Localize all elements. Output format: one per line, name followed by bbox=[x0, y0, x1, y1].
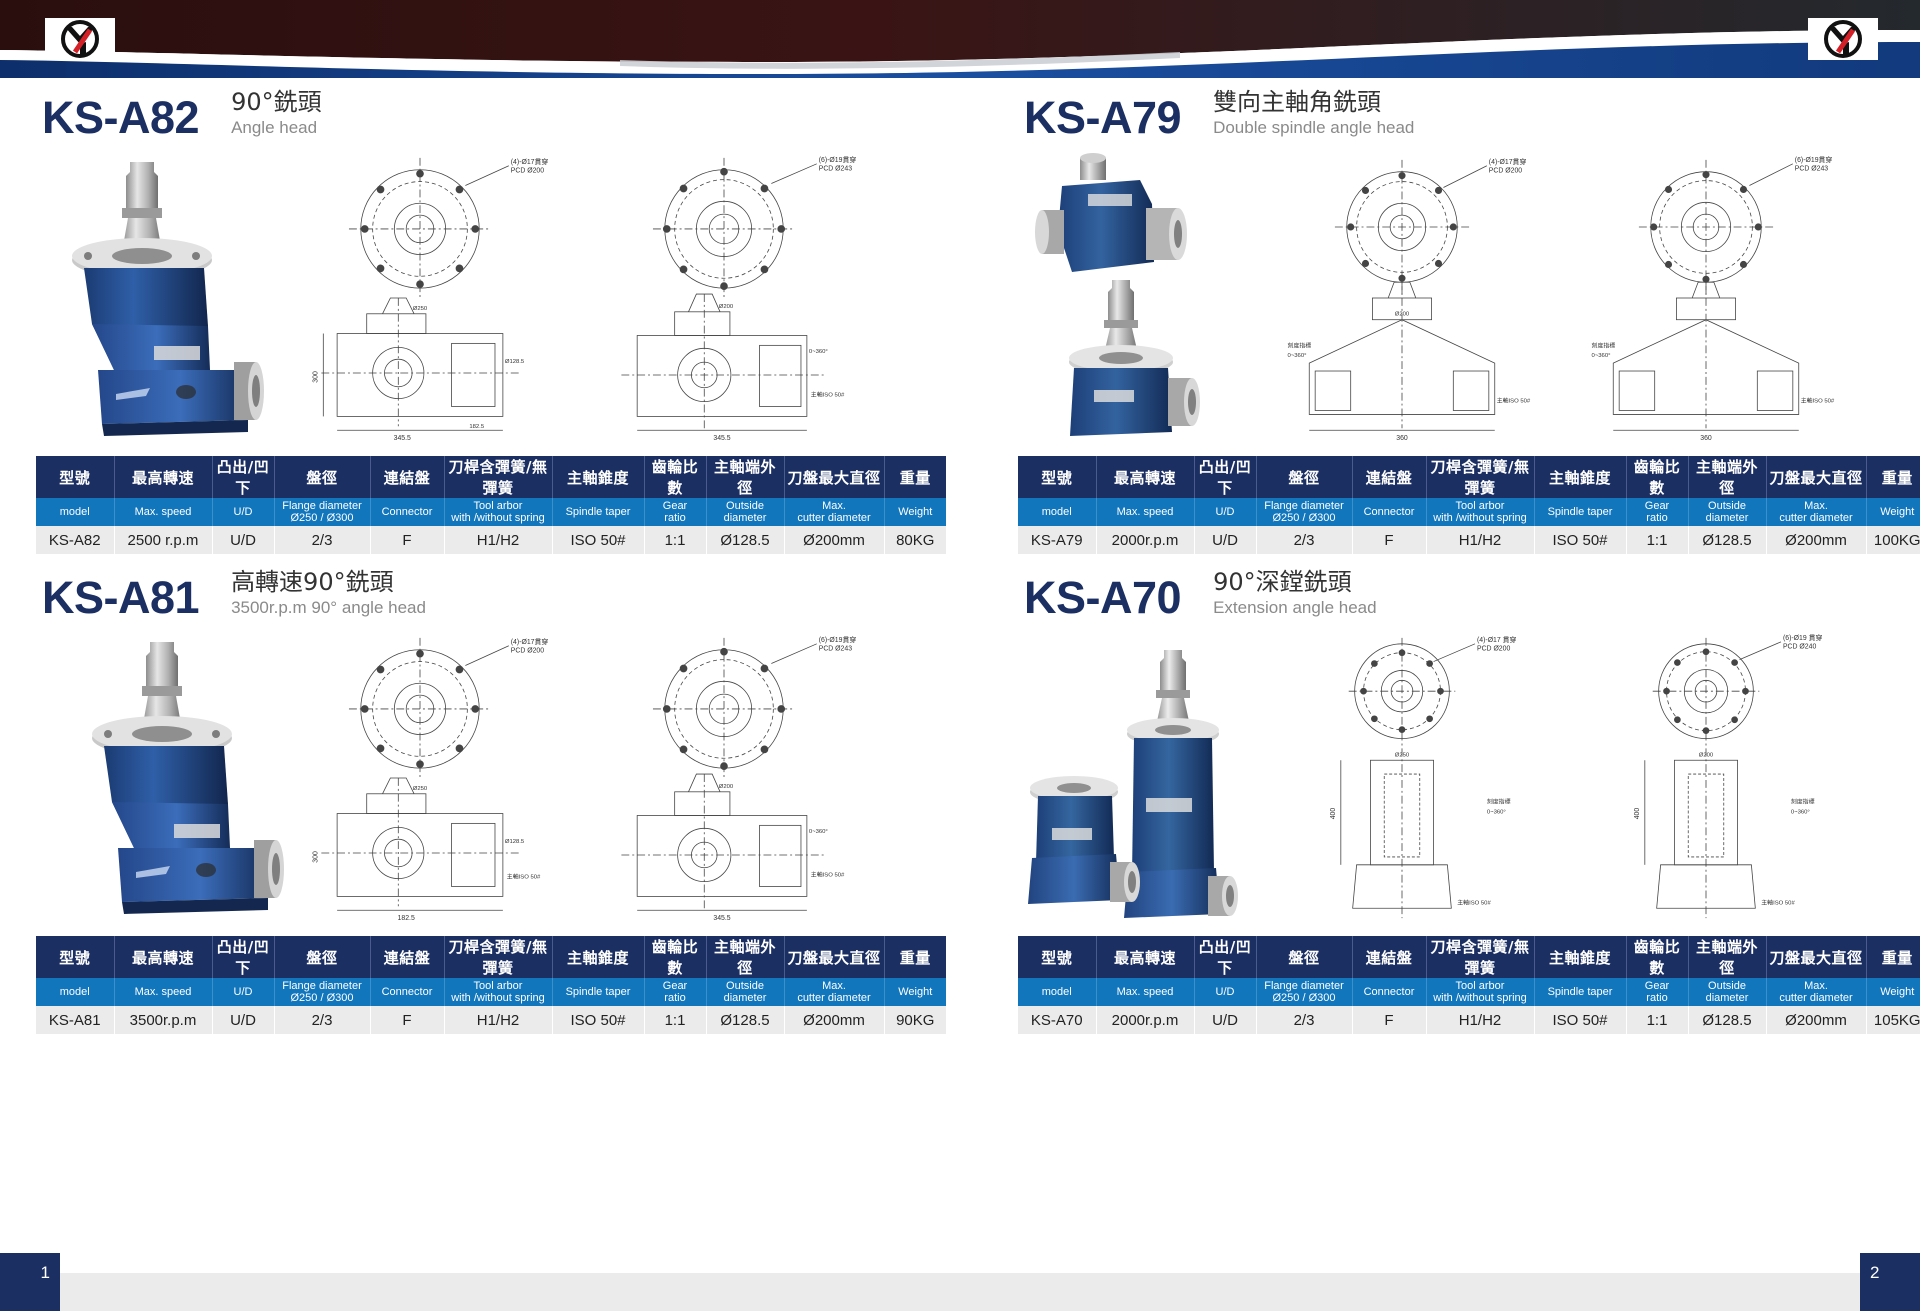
cell-connector: F bbox=[370, 1006, 444, 1034]
table-header-row-cn: 型號 最高轉速 凸出/凹下 盤徑 連結盤 刀桿含彈簧/無彈簧 主軸錐度 齒輪比數… bbox=[36, 456, 946, 498]
table-header-row-cn: 型號 最高轉速 凸出/凹下 盤徑 連結盤 刀桿含彈簧/無彈簧 主軸錐度 齒輪比數… bbox=[1018, 936, 1920, 978]
th-en-outside-dia: Outsidediameter bbox=[1688, 978, 1766, 1006]
svg-text:300: 300 bbox=[312, 371, 319, 383]
cell-tool-arbor: H1/H2 bbox=[1426, 526, 1534, 554]
product-media: (4)-Ø17貫穿 PCD Ø200 360 主軸ISO 50# 刻度指標 bbox=[1018, 148, 1854, 448]
th-cn-spindle: 主軸錐度 bbox=[552, 936, 644, 978]
product-heading: KS-A79 雙向主軸角銑頭 Double spindle angle head bbox=[1018, 82, 1854, 140]
cell-connector: F bbox=[1352, 526, 1426, 554]
table-header-row-cn: 型號 最高轉速 凸出/凹下 盤徑 連結盤 刀桿含彈簧/無彈簧 主軸錐度 齒輪比數… bbox=[36, 936, 946, 978]
th-en-gear-ratio: Gearratio bbox=[1626, 498, 1688, 526]
product-block-ks-a81: KS-A81 高轉速90°銑頭 3500r.p.m 90° angle head bbox=[36, 562, 872, 1034]
cell-ud: U/D bbox=[1194, 1006, 1256, 1034]
spec-table-ks-a79: 型號 最高轉速 凸出/凹下 盤徑 連結盤 刀桿含彈簧/無彈簧 主軸錐度 齒輪比數… bbox=[1018, 456, 1920, 554]
cell-spindle-taper: ISO 50# bbox=[1534, 526, 1626, 554]
table-header-row-cn: 型號 最高轉速 凸出/凹下 盤徑 連結盤 刀桿含彈簧/無彈簧 主軸錐度 齒輪比數… bbox=[1018, 456, 1920, 498]
table-header-row-en: model Max. speed U/D Flange diameterØ250… bbox=[36, 498, 946, 526]
svg-text:Ø200: Ø200 bbox=[1395, 312, 1410, 318]
th-en-gear-ratio: Gearratio bbox=[1626, 978, 1688, 1006]
product-heading: KS-A82 90°銑頭 Angle head bbox=[36, 82, 872, 140]
th-cn-flange: 盤徑 bbox=[1256, 936, 1352, 978]
th-en-cutter-dia: Max.cutter diameter bbox=[784, 498, 884, 526]
th-en-outside-dia: Outsidediameter bbox=[1688, 498, 1766, 526]
table-header-row-en: model Max. speed U/D Flange diameterØ250… bbox=[1018, 978, 1920, 1006]
svg-text:345.5: 345.5 bbox=[713, 915, 730, 922]
svg-text:(4)-Ø17貫穿: (4)-Ø17貫穿 bbox=[511, 637, 549, 646]
svg-text:(6)-Ø19 貫穿: (6)-Ø19 貫穿 bbox=[1783, 633, 1823, 642]
svg-text:主軸ISO 50#: 主軸ISO 50# bbox=[811, 871, 845, 879]
drawing-rear-view: (6)-Ø19貫穿 PCD Ø243 345.5 Ø200 主軸ISO 50# bbox=[576, 628, 872, 928]
product-heading: KS-A81 高轉速90°銑頭 3500r.p.m 90° angle head bbox=[36, 562, 872, 620]
th-en-flange: Flange diameterØ250 / Ø300 bbox=[1256, 498, 1352, 526]
th-cn-outside-dia: 主軸端外徑 bbox=[1688, 936, 1766, 978]
svg-text:(4)-Ø17貫穿: (4)-Ø17貫穿 bbox=[1489, 157, 1527, 166]
page-number-right: 2 bbox=[1860, 1253, 1920, 1311]
cell-flange-diameter: 2/3 bbox=[1256, 526, 1352, 554]
th-cn-outside-dia: 主軸端外徑 bbox=[706, 456, 784, 498]
th-en-flange: Flange diameterØ250 / Ø300 bbox=[1256, 978, 1352, 1006]
svg-text:主軸ISO 50#: 主軸ISO 50# bbox=[1457, 898, 1491, 906]
drawing-rear-view: (6)-Ø19 貫穿 PCD Ø240 400 Ø200 主軸ISO 50# 刻… bbox=[1558, 628, 1854, 928]
svg-text:300: 300 bbox=[312, 851, 319, 863]
th-cn-weight: 重量 bbox=[1866, 456, 1920, 498]
th-en-connector: Connector bbox=[370, 498, 444, 526]
cell-max-speed: 2000r.p.m bbox=[1096, 1006, 1194, 1034]
page-header-banner bbox=[0, 0, 1920, 78]
cell-model: KS-A79 bbox=[1018, 526, 1096, 554]
product-model-code: KS-A79 bbox=[1024, 95, 1181, 140]
svg-text:345.5: 345.5 bbox=[394, 435, 411, 442]
technical-drawings: (4)-Ø17貫穿 PCD Ø200 182.5 300 Ø250 Ø1 bbox=[272, 628, 872, 928]
th-cn-model: 型號 bbox=[1018, 936, 1096, 978]
th-cn-cutter-dia: 刀盤最大直徑 bbox=[784, 456, 884, 498]
th-en-connector: Connector bbox=[370, 978, 444, 1006]
svg-text:182.5: 182.5 bbox=[469, 424, 484, 430]
cell-spindle-taper: ISO 50# bbox=[552, 526, 644, 554]
th-cn-weight: 重量 bbox=[884, 456, 946, 498]
th-cn-spindle: 主軸錐度 bbox=[552, 456, 644, 498]
th-cn-model: 型號 bbox=[1018, 456, 1096, 498]
th-en-gear-ratio: Gearratio bbox=[644, 978, 706, 1006]
product-title-en: Angle head bbox=[231, 118, 322, 138]
th-cn-flange: 盤徑 bbox=[1256, 456, 1352, 498]
page-footer: 1 2 bbox=[0, 1249, 1920, 1311]
th-en-spindle: Spindle taper bbox=[1534, 978, 1626, 1006]
svg-text:主軸ISO 50#: 主軸ISO 50# bbox=[1801, 397, 1835, 405]
drawing-rear-view: (6)-Ø19貫穿 PCD Ø243 360 主軸ISO 50# 刻度指標 0~… bbox=[1558, 148, 1854, 448]
th-en-cutter-dia: Max.cutter diameter bbox=[1766, 498, 1866, 526]
svg-text:182.5: 182.5 bbox=[398, 915, 415, 922]
th-en-weight: Weight bbox=[884, 978, 946, 1006]
svg-text:345.5: 345.5 bbox=[713, 435, 730, 442]
product-block-ks-a70: KS-A70 90°深鏜銑頭 Extension angle head bbox=[1018, 562, 1854, 1034]
th-en-spindle: Spindle taper bbox=[552, 978, 644, 1006]
th-en-weight: Weight bbox=[884, 498, 946, 526]
technical-drawings: (4)-Ø17 貫穿 PCD Ø200 400 Ø250 主軸ISO 50# 刻… bbox=[1254, 628, 1854, 928]
svg-text:400: 400 bbox=[1634, 808, 1641, 820]
product-title-en: Extension angle head bbox=[1213, 598, 1377, 618]
th-cn-cutter-dia: 刀盤最大直徑 bbox=[1766, 936, 1866, 978]
svg-text:(4)-Ø17貫穿: (4)-Ø17貫穿 bbox=[511, 157, 549, 166]
product-title-en: 3500r.p.m 90° angle head bbox=[231, 598, 426, 618]
drawing-front-view: (4)-Ø17貫穿 PCD Ø200 360 主軸ISO 50# 刻度指標 bbox=[1254, 148, 1550, 448]
th-cn-outside-dia: 主軸端外徑 bbox=[706, 936, 784, 978]
drawing-front-view: (4)-Ø17貫穿 PCD Ø200 182.5 300 Ø250 Ø1 bbox=[272, 628, 568, 928]
table-row: KS-A82 2500 r.p.m U/D 2/3 F H1/H2 ISO 50… bbox=[36, 526, 946, 554]
th-en-tool-arbor: Tool arborwith /without spring bbox=[444, 978, 552, 1006]
th-cn-cutter-dia: 刀盤最大直徑 bbox=[784, 936, 884, 978]
svg-text:PCD Ø243: PCD Ø243 bbox=[819, 166, 852, 173]
th-cn-connector: 連結盤 bbox=[370, 936, 444, 978]
svg-text:(4)-Ø17 貫穿: (4)-Ø17 貫穿 bbox=[1477, 635, 1517, 644]
th-en-flange: Flange diameterØ250 / Ø300 bbox=[274, 498, 370, 526]
cell-model: KS-A81 bbox=[36, 1006, 114, 1034]
th-cn-ud: 凸出/凹下 bbox=[212, 456, 274, 498]
cell-connector: F bbox=[1352, 1006, 1426, 1034]
page-number-right-label: 2 bbox=[1870, 1263, 1879, 1283]
th-en-model: model bbox=[36, 498, 114, 526]
product-model-code: KS-A81 bbox=[42, 575, 199, 620]
cell-flange-diameter: 2/3 bbox=[274, 526, 370, 554]
th-en-connector: Connector bbox=[1352, 498, 1426, 526]
th-en-gear-ratio: Gearratio bbox=[644, 498, 706, 526]
cell-tool-arbor: H1/H2 bbox=[444, 1006, 552, 1034]
th-cn-connector: 連結盤 bbox=[1352, 456, 1426, 498]
drawing-front-view: (4)-Ø17 貫穿 PCD Ø200 400 Ø250 主軸ISO 50# 刻… bbox=[1254, 628, 1550, 928]
product-title-cn: 90°銑頭 bbox=[231, 89, 322, 117]
product-model-code: KS-A82 bbox=[42, 95, 199, 140]
th-en-spindle: Spindle taper bbox=[552, 498, 644, 526]
svg-text:Ø200: Ø200 bbox=[719, 784, 734, 790]
cell-model: KS-A70 bbox=[1018, 1006, 1096, 1034]
th-cn-outside-dia: 主軸端外徑 bbox=[1688, 456, 1766, 498]
th-en-flange: Flange diameterØ250 / Ø300 bbox=[274, 978, 370, 1006]
svg-text:PCD Ø243: PCD Ø243 bbox=[819, 646, 852, 653]
cell-cutter-diameter: Ø200mm bbox=[784, 526, 884, 554]
th-cn-weight: 重量 bbox=[884, 936, 946, 978]
th-cn-max-speed: 最高轉速 bbox=[114, 456, 212, 498]
svg-text:0~360°: 0~360° bbox=[1288, 353, 1307, 359]
cell-ud: U/D bbox=[212, 1006, 274, 1034]
footer-bar bbox=[0, 1273, 1920, 1311]
product-model-code: KS-A70 bbox=[1024, 575, 1181, 620]
ks-a82-product-photo bbox=[58, 156, 268, 446]
cell-max-speed: 2000r.p.m bbox=[1096, 526, 1194, 554]
table-header-row-en: model Max. speed U/D Flange diameterØ250… bbox=[36, 978, 946, 1006]
th-en-ud: U/D bbox=[1194, 498, 1256, 526]
cell-spindle-taper: ISO 50# bbox=[552, 1006, 644, 1034]
svg-text:Ø200: Ø200 bbox=[1699, 752, 1714, 758]
cell-gear-ratio: 1:1 bbox=[1626, 1006, 1688, 1034]
th-en-cutter-dia: Max.cutter diameter bbox=[1766, 978, 1866, 1006]
svg-text:主軸ISO 50#: 主軸ISO 50# bbox=[507, 873, 541, 881]
th-cn-ud: 凸出/凹下 bbox=[1194, 936, 1256, 978]
catalog-page: KS-A82 90°銑頭 Angle head bbox=[0, 0, 1920, 1311]
ks-a81-product-photo bbox=[76, 636, 291, 926]
th-cn-cutter-dia: 刀盤最大直徑 bbox=[1766, 456, 1866, 498]
svg-text:刻度指標: 刻度指標 bbox=[1791, 798, 1815, 806]
cell-cutter-diameter: Ø200mm bbox=[1766, 526, 1866, 554]
svg-text:Ø128.5: Ø128.5 bbox=[505, 359, 525, 365]
th-en-tool-arbor: Tool arborwith /without spring bbox=[1426, 978, 1534, 1006]
cell-cutter-diameter: Ø200mm bbox=[1766, 1006, 1866, 1034]
svg-text:360: 360 bbox=[1396, 435, 1408, 442]
th-cn-connector: 連結盤 bbox=[370, 456, 444, 498]
th-en-tool-arbor: Tool arborwith /without spring bbox=[1426, 498, 1534, 526]
svg-text:(6)-Ø19貫穿: (6)-Ø19貫穿 bbox=[1795, 155, 1833, 164]
th-en-model: model bbox=[1018, 978, 1096, 1006]
company-logo-secondary bbox=[1808, 18, 1878, 60]
svg-text:刻度指標: 刻度指標 bbox=[1592, 341, 1616, 349]
svg-text:刻度指標: 刻度指標 bbox=[1487, 798, 1511, 806]
page-number-left-label: 1 bbox=[41, 1263, 50, 1283]
th-en-ud: U/D bbox=[1194, 978, 1256, 1006]
th-cn-ud: 凸出/凹下 bbox=[1194, 456, 1256, 498]
th-en-model: model bbox=[1018, 498, 1096, 526]
product-media: (4)-Ø17貫穿 PCD Ø200 345.5 bbox=[36, 148, 872, 448]
th-en-cutter-dia: Max.cutter diameter bbox=[784, 978, 884, 1006]
cell-cutter-diameter: Ø200mm bbox=[784, 1006, 884, 1034]
svg-text:Ø250: Ø250 bbox=[413, 306, 428, 312]
cell-weight: 100KG bbox=[1866, 526, 1920, 554]
cell-outside-diameter: Ø128.5 bbox=[706, 1006, 784, 1034]
svg-text:Ø250: Ø250 bbox=[413, 786, 428, 792]
cell-weight: 105KG bbox=[1866, 1006, 1920, 1034]
svg-text:刻度指標: 刻度指標 bbox=[1288, 341, 1312, 349]
th-cn-max-speed: 最高轉速 bbox=[114, 936, 212, 978]
th-cn-flange: 盤徑 bbox=[274, 936, 370, 978]
cell-outside-diameter: Ø128.5 bbox=[1688, 526, 1766, 554]
svg-text:Ø200: Ø200 bbox=[719, 304, 734, 310]
svg-text:PCD Ø200: PCD Ø200 bbox=[511, 168, 544, 175]
product-title-cn: 雙向主軸角銑頭 bbox=[1213, 89, 1414, 117]
svg-text:0~360°: 0~360° bbox=[1592, 353, 1611, 359]
th-cn-spindle: 主軸錐度 bbox=[1534, 936, 1626, 978]
svg-text:(6)-Ø19貫穿: (6)-Ø19貫穿 bbox=[819, 155, 857, 164]
svg-text:400: 400 bbox=[1330, 808, 1337, 820]
th-en-max-speed: Max. speed bbox=[1096, 498, 1194, 526]
svg-text:0~360°: 0~360° bbox=[1791, 810, 1810, 816]
svg-text:Ø250: Ø250 bbox=[1395, 752, 1410, 758]
cell-max-speed: 3500r.p.m bbox=[114, 1006, 212, 1034]
svg-text:360: 360 bbox=[1700, 435, 1712, 442]
th-en-spindle: Spindle taper bbox=[1534, 498, 1626, 526]
th-en-ud: U/D bbox=[212, 498, 274, 526]
cell-flange-diameter: 2/3 bbox=[274, 1006, 370, 1034]
cell-gear-ratio: 1:1 bbox=[1626, 526, 1688, 554]
th-cn-gear-ratio: 齒輪比數 bbox=[644, 936, 706, 978]
product-media: (4)-Ø17 貫穿 PCD Ø200 400 Ø250 主軸ISO 50# 刻… bbox=[1018, 628, 1854, 928]
cell-ud: U/D bbox=[212, 526, 274, 554]
th-cn-max-speed: 最高轉速 bbox=[1096, 456, 1194, 498]
svg-text:0~360°: 0~360° bbox=[1487, 810, 1506, 816]
svg-text:PCD Ø200: PCD Ø200 bbox=[511, 648, 544, 655]
product-block-ks-a79: KS-A79 雙向主軸角銑頭 Double spindle angle head bbox=[1018, 82, 1854, 554]
th-cn-gear-ratio: 齒輪比數 bbox=[1626, 456, 1688, 498]
technical-drawings: (4)-Ø17貫穿 PCD Ø200 345.5 bbox=[272, 148, 872, 448]
th-cn-model: 型號 bbox=[36, 936, 114, 978]
cell-outside-diameter: Ø128.5 bbox=[1688, 1006, 1766, 1034]
th-en-connector: Connector bbox=[1352, 978, 1426, 1006]
th-cn-tool-arbor: 刀桿含彈簧/無彈簧 bbox=[444, 456, 552, 498]
cell-max-speed: 2500 r.p.m bbox=[114, 526, 212, 554]
cell-tool-arbor: H1/H2 bbox=[444, 526, 552, 554]
th-cn-max-speed: 最高轉速 bbox=[1096, 936, 1194, 978]
svg-text:主軸ISO 50#: 主軸ISO 50# bbox=[1497, 397, 1531, 405]
table-row: KS-A79 2000r.p.m U/D 2/3 F H1/H2 ISO 50#… bbox=[1018, 526, 1920, 554]
cell-gear-ratio: 1:1 bbox=[644, 1006, 706, 1034]
table-row: KS-A70 2000r.p.m U/D 2/3 F H1/H2 ISO 50#… bbox=[1018, 1006, 1920, 1034]
th-en-max-speed: Max. speed bbox=[114, 498, 212, 526]
th-en-weight: Weight bbox=[1866, 978, 1920, 1006]
th-cn-gear-ratio: 齒輪比數 bbox=[1626, 936, 1688, 978]
th-cn-tool-arbor: 刀桿含彈簧/無彈簧 bbox=[1426, 936, 1534, 978]
th-en-model: model bbox=[36, 978, 114, 1006]
th-cn-spindle: 主軸錐度 bbox=[1534, 456, 1626, 498]
svg-text:主軸ISO 50#: 主軸ISO 50# bbox=[1761, 898, 1795, 906]
th-cn-flange: 盤徑 bbox=[274, 456, 370, 498]
technical-drawings: (4)-Ø17貫穿 PCD Ø200 360 主軸ISO 50# 刻度指標 bbox=[1254, 148, 1854, 448]
company-logo bbox=[45, 18, 115, 60]
svg-text:PCD Ø243: PCD Ø243 bbox=[1795, 166, 1828, 173]
th-en-outside-dia: Outsidediameter bbox=[706, 978, 784, 1006]
product-heading: KS-A70 90°深鏜銑頭 Extension angle head bbox=[1018, 562, 1854, 620]
drawing-rear-view: (6)-Ø19貫穿 PCD Ø243 345.5 Ø200 bbox=[576, 148, 872, 448]
cell-weight: 90KG bbox=[884, 1006, 946, 1034]
ks-a79-product-photo bbox=[1028, 152, 1248, 446]
th-cn-ud: 凸出/凹下 bbox=[212, 936, 274, 978]
page-number-left: 1 bbox=[0, 1253, 60, 1311]
svg-text:PCD Ø240: PCD Ø240 bbox=[1783, 644, 1816, 651]
cell-tool-arbor: H1/H2 bbox=[1426, 1006, 1534, 1034]
svg-text:主軸ISO 50#: 主軸ISO 50# bbox=[811, 391, 845, 399]
ks-a70-product-photo bbox=[1018, 632, 1248, 926]
th-en-max-speed: Max. speed bbox=[1096, 978, 1194, 1006]
table-header-row-en: model Max. speed U/D Flange diameterØ250… bbox=[1018, 498, 1920, 526]
spec-table-ks-a81: 型號 最高轉速 凸出/凹下 盤徑 連結盤 刀桿含彈簧/無彈簧 主軸錐度 齒輪比數… bbox=[36, 936, 946, 1034]
svg-text:Ø128.5: Ø128.5 bbox=[505, 839, 525, 845]
cell-outside-diameter: Ø128.5 bbox=[706, 526, 784, 554]
table-row: KS-A81 3500r.p.m U/D 2/3 F H1/H2 ISO 50#… bbox=[36, 1006, 946, 1034]
cell-gear-ratio: 1:1 bbox=[644, 526, 706, 554]
th-cn-weight: 重量 bbox=[1866, 936, 1920, 978]
th-cn-model: 型號 bbox=[36, 456, 114, 498]
th-cn-connector: 連結盤 bbox=[1352, 936, 1426, 978]
th-en-ud: U/D bbox=[212, 978, 274, 1006]
th-cn-tool-arbor: 刀桿含彈簧/無彈簧 bbox=[1426, 456, 1534, 498]
drawing-front-view: (4)-Ø17貫穿 PCD Ø200 345.5 bbox=[272, 148, 568, 448]
cell-spindle-taper: ISO 50# bbox=[1534, 1006, 1626, 1034]
spec-table-ks-a70: 型號 最高轉速 凸出/凹下 盤徑 連結盤 刀桿含彈簧/無彈簧 主軸錐度 齒輪比數… bbox=[1018, 936, 1920, 1034]
cell-weight: 80KG bbox=[884, 526, 946, 554]
svg-text:PCD Ø200: PCD Ø200 bbox=[1477, 646, 1510, 653]
th-en-outside-dia: Outsidediameter bbox=[706, 498, 784, 526]
product-title-en: Double spindle angle head bbox=[1213, 118, 1414, 138]
product-title-cn: 高轉速90°銑頭 bbox=[231, 569, 426, 597]
product-title-cn: 90°深鏜銑頭 bbox=[1213, 569, 1377, 597]
cell-connector: F bbox=[370, 526, 444, 554]
th-en-weight: Weight bbox=[1866, 498, 1920, 526]
th-cn-tool-arbor: 刀桿含彈簧/無彈簧 bbox=[444, 936, 552, 978]
svg-text:PCD Ø200: PCD Ø200 bbox=[1489, 168, 1522, 175]
th-en-tool-arbor: Tool arborwith /without spring bbox=[444, 498, 552, 526]
cell-ud: U/D bbox=[1194, 526, 1256, 554]
cell-model: KS-A82 bbox=[36, 526, 114, 554]
svg-text:0~360°: 0~360° bbox=[809, 829, 828, 835]
th-en-max-speed: Max. speed bbox=[114, 978, 212, 1006]
cell-flange-diameter: 2/3 bbox=[1256, 1006, 1352, 1034]
th-cn-gear-ratio: 齒輪比數 bbox=[644, 456, 706, 498]
svg-text:0~360°: 0~360° bbox=[809, 349, 828, 355]
svg-text:(6)-Ø19貫穿: (6)-Ø19貫穿 bbox=[819, 635, 857, 644]
product-media: (4)-Ø17貫穿 PCD Ø200 182.5 300 Ø250 Ø1 bbox=[36, 628, 872, 928]
product-block-ks-a82: KS-A82 90°銑頭 Angle head bbox=[36, 82, 872, 554]
spec-table-ks-a82: 型號 最高轉速 凸出/凹下 盤徑 連結盤 刀桿含彈簧/無彈簧 主軸錐度 齒輪比數… bbox=[36, 456, 946, 554]
